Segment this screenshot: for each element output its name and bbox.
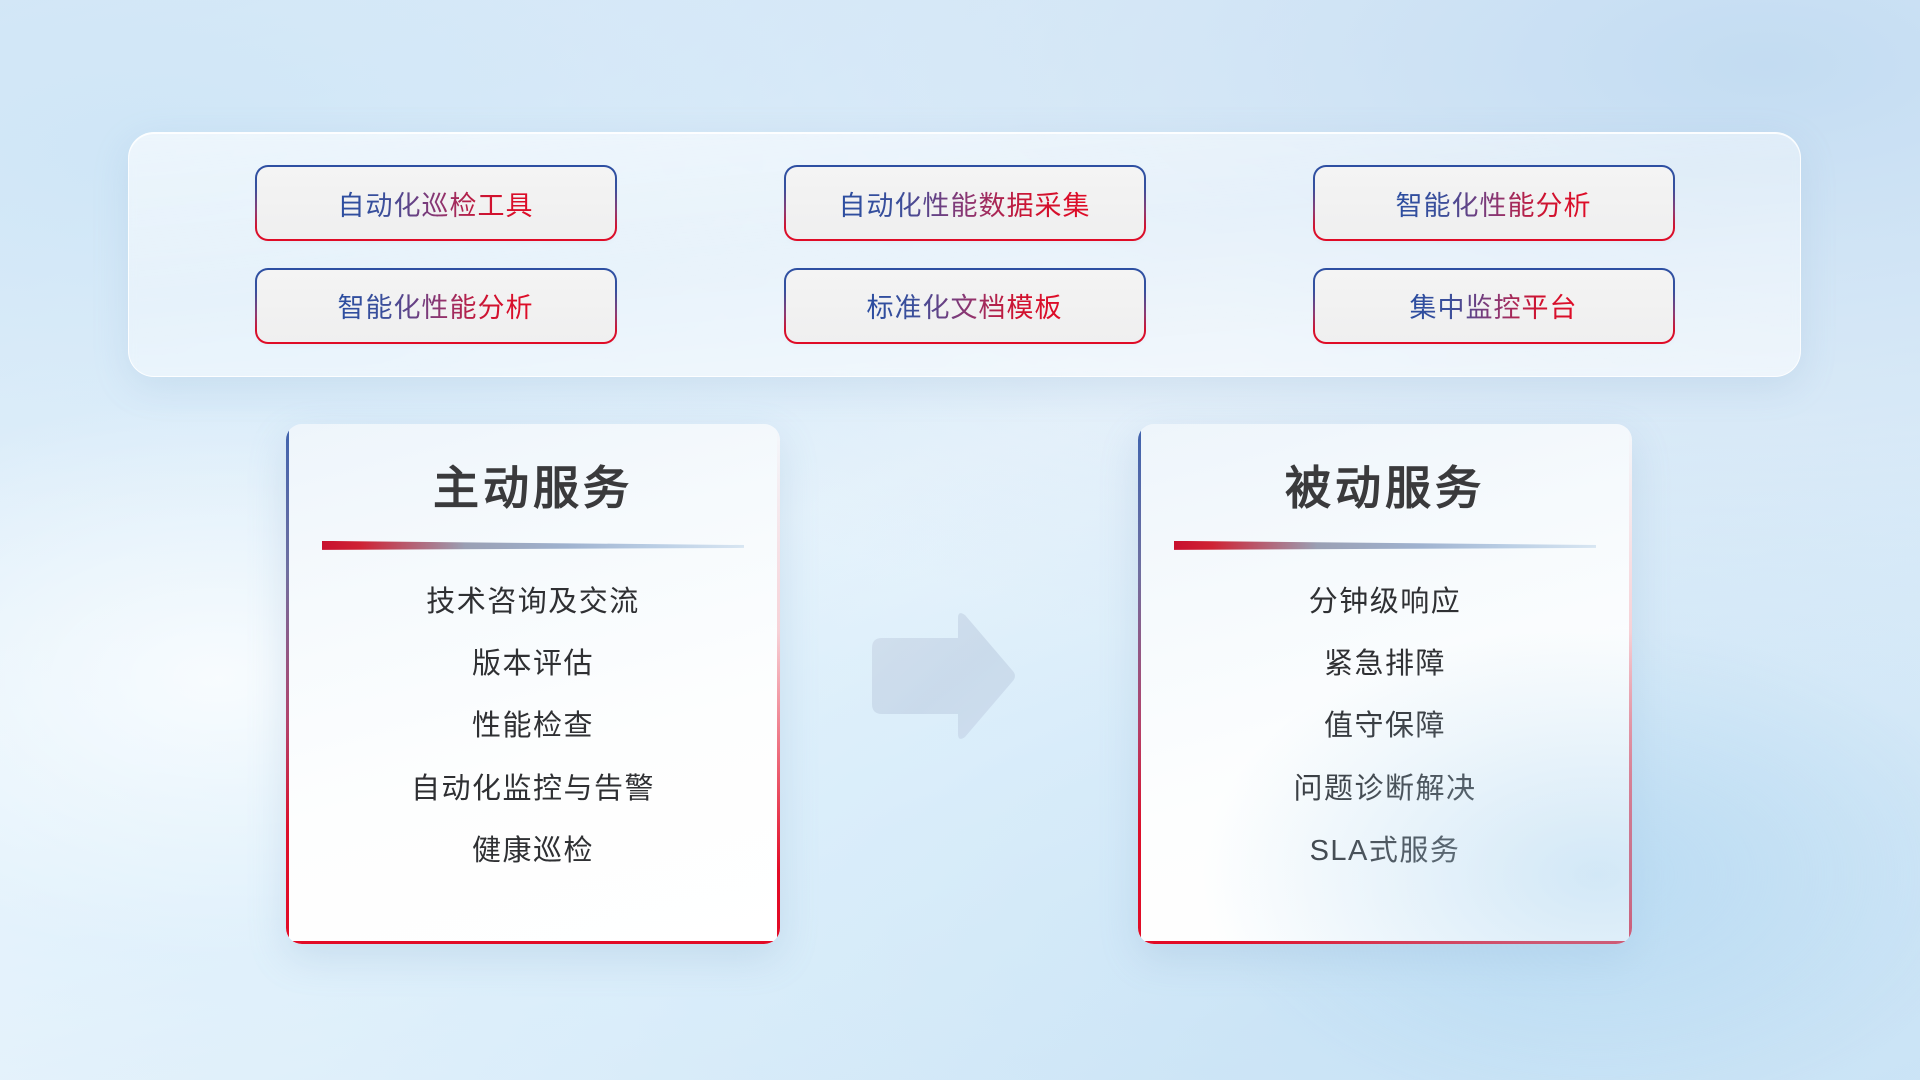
reactive-service-list: 分钟级响应 紧急排障 值守保障 问题诊断解决 SLA式服务 — [1168, 584, 1602, 869]
title-divider — [1174, 541, 1596, 550]
proactive-card-title: 主动服务 — [316, 462, 750, 515]
proactive-service-card: 主动服务 技术咨询及交流 版本评估 性能检查 自动化监控与告警 健康巡检 — [286, 424, 780, 944]
flow-arrow-right-icon — [866, 612, 1018, 740]
card-edge-accent — [777, 424, 780, 944]
capability-pill-label: 集中监控平台 — [1410, 286, 1578, 325]
capability-pill-label: 智能化性能分析 — [338, 286, 534, 325]
capability-pill-label: 自动化性能数据采集 — [839, 184, 1091, 223]
list-item: 技术咨询及交流 — [426, 584, 640, 620]
list-item: 自动化监控与告警 — [411, 771, 655, 807]
reactive-card-title: 被动服务 — [1168, 462, 1602, 515]
capability-panel: 自动化巡检工具 自动化性能数据采集 智能化性能分析 智能化性能分析 标准化文档模… — [128, 132, 1801, 377]
list-item: 问题诊断解决 — [1293, 771, 1476, 807]
list-item: 性能检查 — [472, 708, 594, 744]
capability-pill-label: 标准化文档模板 — [867, 286, 1063, 325]
capability-pill-6[interactable]: 集中监控平台 — [1315, 270, 1673, 342]
capability-pill-5[interactable]: 标准化文档模板 — [786, 270, 1144, 342]
list-item: 版本评估 — [472, 646, 594, 682]
card-edge-accent — [1629, 424, 1632, 944]
slide-canvas: 自动化巡检工具 自动化性能数据采集 智能化性能分析 智能化性能分析 标准化文档模… — [0, 0, 1920, 1080]
capability-pill-1[interactable]: 自动化巡检工具 — [257, 167, 615, 239]
capability-pill-2[interactable]: 自动化性能数据采集 — [786, 167, 1144, 239]
capability-pill-3[interactable]: 智能化性能分析 — [1315, 167, 1673, 239]
list-item: 健康巡检 — [472, 833, 594, 869]
list-item: 值守保障 — [1324, 708, 1446, 744]
reactive-service-card: 被动服务 分钟级响应 紧急排障 值守保障 问题诊断解决 SLA式服务 — [1138, 424, 1632, 944]
capability-pill-4[interactable]: 智能化性能分析 — [257, 270, 615, 342]
list-item: 分钟级响应 — [1309, 584, 1462, 620]
title-divider — [322, 541, 744, 550]
list-item: SLA式服务 — [1310, 833, 1461, 869]
list-item: 紧急排障 — [1324, 646, 1446, 682]
capability-pill-label: 自动化巡检工具 — [338, 184, 534, 223]
capability-pill-label: 智能化性能分析 — [1396, 184, 1592, 223]
proactive-service-list: 技术咨询及交流 版本评估 性能检查 自动化监控与告警 健康巡检 — [316, 584, 750, 869]
